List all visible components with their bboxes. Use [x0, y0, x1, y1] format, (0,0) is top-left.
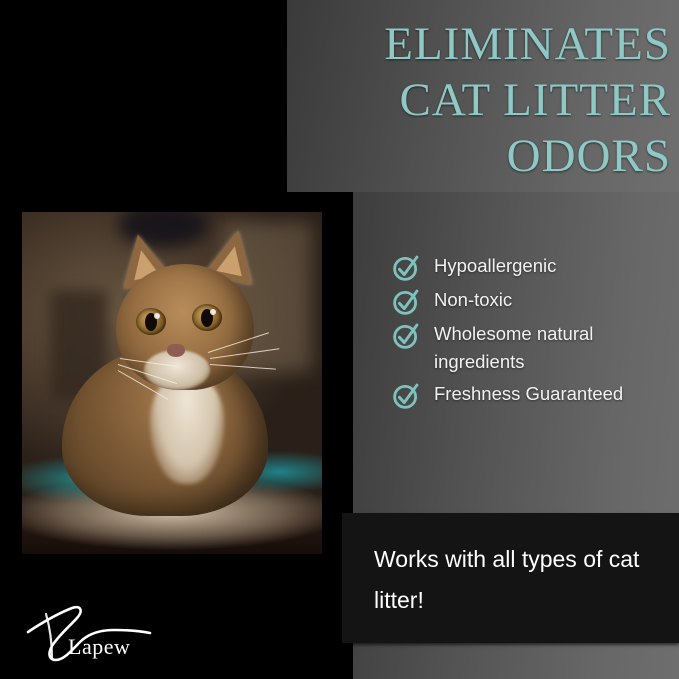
feature-label: Freshness Guaranteed [434, 380, 623, 408]
headline-line-2: CAT LITTER [296, 72, 671, 128]
callout-box: Works with all types of cat litter! [342, 513, 679, 643]
product-photo [22, 212, 322, 554]
check-circle-icon [392, 382, 420, 410]
check-circle-icon [392, 254, 420, 282]
kitten-nose [167, 344, 185, 357]
feature-item: Hypoallergenic [392, 252, 677, 282]
headline-line-1: ELIMINATES [296, 16, 671, 72]
kitten-left-eye [136, 308, 166, 335]
feature-item: Freshness Guaranteed [392, 380, 677, 410]
check-circle-icon [392, 322, 420, 350]
brand-logo: Lapew [22, 598, 172, 664]
kitten-subject [22, 212, 322, 554]
feature-item: Wholesome natural ingredients [392, 320, 677, 376]
headline: ELIMINATES CAT LITTER ODORS [296, 16, 671, 184]
kitten-right-eye [192, 304, 222, 331]
feature-item: Non-toxic [392, 286, 677, 316]
callout-text: Works with all types of cat litter! [374, 539, 654, 621]
feature-label: Hypoallergenic [434, 252, 556, 280]
feature-label: Wholesome natural ingredients [434, 320, 677, 376]
check-circle-icon [392, 288, 420, 316]
brand-name: Lapew [68, 634, 130, 660]
product-ad-image: ELIMINATES CAT LITTER ODORS [0, 0, 679, 679]
headline-line-3: ODORS [296, 128, 671, 184]
photo-scene [22, 212, 322, 554]
feature-list: Hypoallergenic Non-toxic Wholesome natur… [392, 252, 677, 414]
feature-label: Non-toxic [434, 286, 512, 314]
